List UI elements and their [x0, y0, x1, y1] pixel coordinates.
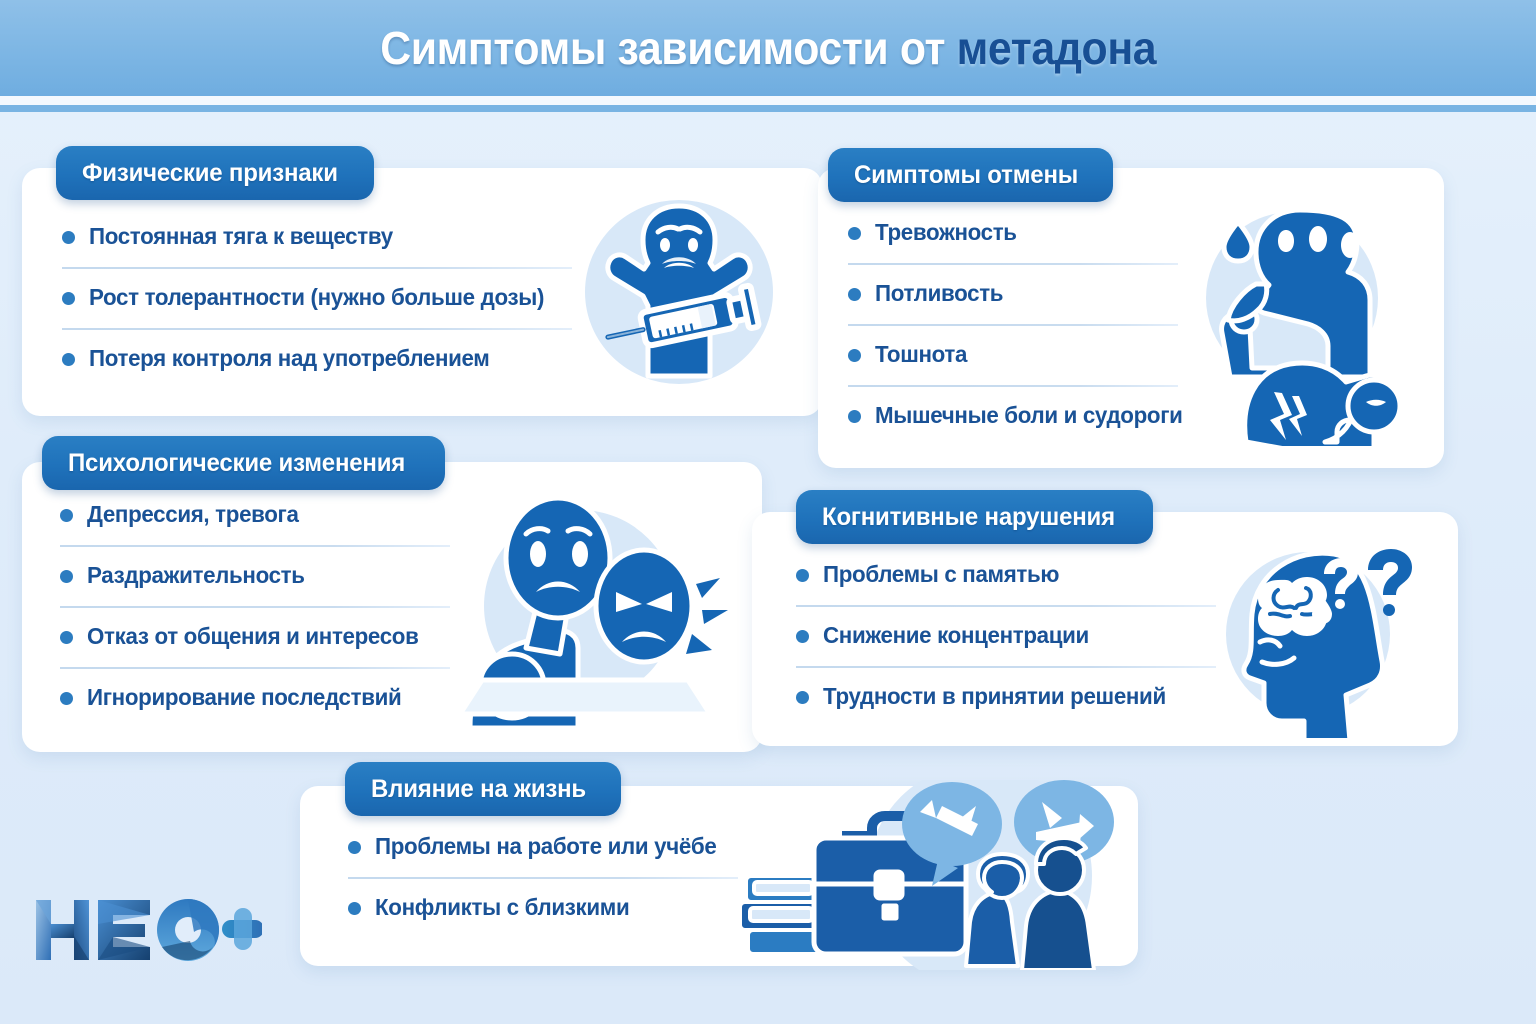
bullet-dot-icon — [348, 902, 361, 915]
page-title-accent: метадона — [956, 22, 1156, 74]
list-item: Конфликты с близкими — [348, 893, 738, 928]
bullet-dot-icon — [60, 692, 73, 705]
list-item-label: Проблемы с памятью — [823, 560, 1059, 589]
list-separator — [60, 545, 450, 547]
list-item: Трудности в принятии решений — [796, 682, 1216, 717]
page-title-main: Симптомы зависимости от — [380, 22, 956, 74]
list-withdrawal-symptoms: Тревожность Потливость Тошнота Мышечные … — [848, 218, 1178, 436]
badge-life-impact: Влияние на жизнь — [345, 762, 621, 816]
list-item-label: Рост толерантности (нужно больше дозы) — [89, 283, 544, 312]
head-with-brain-question-marks-icon — [1216, 538, 1416, 738]
list-item: Раздражительность — [60, 561, 450, 596]
badge-physical-label: Физические признаки — [82, 159, 338, 188]
list-item-label: Потливость — [875, 279, 1003, 308]
list-item-label: Тревожность — [875, 218, 1017, 247]
list-item-label: Игнорирование последствий — [87, 683, 401, 712]
list-item: Отказ от общения и интересов — [60, 622, 450, 657]
list-item: Потливость — [848, 279, 1178, 314]
list-item-label: Тошнота — [875, 340, 967, 369]
list-cognitive-impairment: Проблемы с памятью Снижение концентрации… — [796, 560, 1216, 717]
list-life-impact: Проблемы на работе или учёбе Конфликты с… — [348, 832, 738, 928]
list-separator — [848, 324, 1178, 326]
list-item: Снижение концентрации — [796, 621, 1216, 656]
bullet-dot-icon — [848, 227, 861, 240]
list-item: Мышечные боли и судороги — [848, 401, 1178, 436]
badge-life-impact-label: Влияние на жизнь — [371, 775, 586, 804]
list-item: Тошнота — [848, 340, 1178, 375]
bullet-dot-icon — [60, 631, 73, 644]
badge-psychological-label: Психологические изменения — [68, 449, 405, 478]
sweating-person-with-cramps-icon — [1180, 196, 1428, 446]
badge-psychological-changes: Психологические изменения — [42, 436, 445, 490]
neo-plus-logo — [32, 888, 262, 979]
badge-physical-signs: Физические признаки — [56, 146, 374, 200]
bullet-dot-icon — [62, 231, 75, 244]
list-item-label: Раздражительность — [87, 561, 305, 590]
list-separator — [62, 267, 572, 269]
list-item-label: Конфликты с близкими — [375, 893, 629, 922]
page-title: Симптомы зависимости от метадона — [380, 21, 1156, 75]
bullet-dot-icon — [62, 353, 75, 366]
bullet-dot-icon — [60, 509, 73, 522]
badge-withdrawal-label: Симптомы отмены — [854, 161, 1078, 190]
bullet-dot-icon — [348, 841, 361, 854]
bullet-dot-icon — [796, 630, 809, 643]
briefcase-books-people-conflict-icon — [730, 780, 1120, 970]
list-item-label: Трудности в принятии решений — [823, 682, 1166, 711]
header-divider-white — [0, 96, 1536, 105]
list-item: Проблемы с памятью — [796, 560, 1216, 595]
list-item-label: Депрессия, тревога — [87, 500, 299, 529]
bullet-dot-icon — [848, 288, 861, 301]
list-separator — [796, 666, 1216, 668]
bullet-dot-icon — [848, 410, 861, 423]
list-item-label: Мышечные боли и судороги — [875, 401, 1183, 430]
list-item: Рост толерантности (нужно больше дозы) — [62, 283, 572, 318]
sad-and-angry-faces-icon — [440, 488, 730, 738]
list-item-label: Потеря контроля над употреблением — [89, 344, 489, 373]
list-item-label: Постоянная тяга к веществу — [89, 222, 393, 251]
badge-withdrawal-symptoms: Симптомы отмены — [828, 148, 1113, 202]
list-separator — [60, 606, 450, 608]
list-item-label: Снижение концентрации — [823, 621, 1089, 650]
list-separator — [848, 385, 1178, 387]
bullet-dot-icon — [60, 570, 73, 583]
header-divider-blue — [0, 105, 1536, 112]
badge-cognitive-impairment: Когнитивные нарушения — [796, 490, 1153, 544]
list-item: Проблемы на работе или учёбе — [348, 832, 738, 867]
list-separator — [348, 877, 738, 879]
list-item: Депрессия, тревога — [60, 500, 450, 535]
list-item-label: Проблемы на работе или учёбе — [375, 832, 716, 861]
bullet-dot-icon — [796, 569, 809, 582]
list-psychological-changes: Депрессия, тревога Раздражительность Отк… — [60, 500, 450, 718]
list-item: Постоянная тяга к веществу — [62, 222, 572, 257]
list-physical-signs: Постоянная тяга к веществу Рост толерант… — [62, 222, 572, 379]
list-separator — [848, 263, 1178, 265]
list-item: Тревожность — [848, 218, 1178, 253]
bullet-dot-icon — [62, 292, 75, 305]
bullet-dot-icon — [796, 691, 809, 704]
poster-header: Симптомы зависимости от метадона — [0, 0, 1536, 96]
list-separator — [796, 605, 1216, 607]
list-item-label: Отказ от общения и интересов — [87, 622, 419, 651]
badge-cognitive-label: Когнитивные нарушения — [822, 503, 1115, 532]
list-item: Потеря контроля над употреблением — [62, 344, 572, 379]
list-separator — [62, 328, 572, 330]
list-separator — [60, 667, 450, 669]
infographic-poster: Симптомы зависимости от метадона Физичес… — [0, 0, 1536, 1024]
list-item: Игнорирование последствий — [60, 683, 450, 718]
stressed-person-with-syringe-icon — [572, 192, 786, 392]
bullet-dot-icon — [848, 349, 861, 362]
